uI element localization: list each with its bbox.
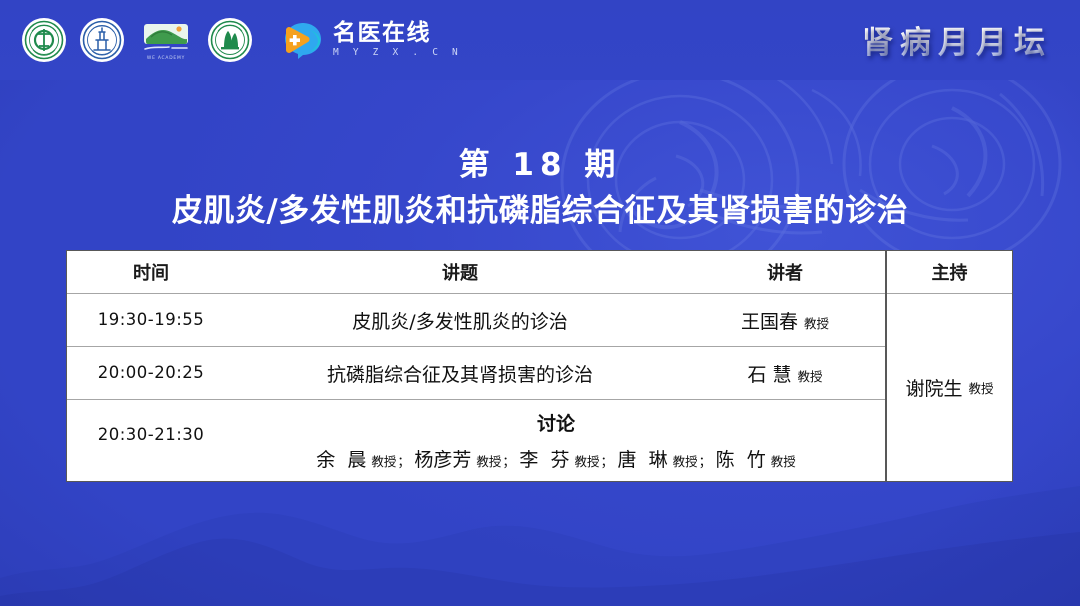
headline-block: 第 18 期 皮肌炎/多发性肌炎和抗磷脂综合征及其肾损害的诊治 — [0, 146, 1080, 231]
panelist-separator: ； — [601, 451, 614, 470]
panelist-rank: 教授 — [673, 451, 698, 470]
org-academy-logo-icon: WE ACADEMY — [138, 17, 194, 63]
row-topic: 抗磷脂综合征及其肾损害的诊治 — [327, 364, 593, 386]
panelist-name: 陈 竹 — [716, 445, 766, 472]
panelist-rank: 教授 — [371, 451, 396, 470]
row-time: 20:00-20:25 — [98, 363, 205, 382]
panelist-name: 李 芬 — [519, 445, 569, 472]
row-time: 19:30-19:55 — [98, 310, 205, 329]
panelist-name: 唐 琳 — [618, 445, 668, 472]
host-column: 主持 谢院生教授 — [885, 251, 1012, 481]
brand-title: 肾病月月坛 — [862, 17, 1052, 62]
panelist-name: 余 晨 — [316, 445, 366, 472]
myzx-domain: M Y Z X . C N — [333, 48, 462, 58]
page-title: 皮肌炎/多发性肌炎和抗磷脂综合征及其肾损害的诊治 — [0, 191, 1080, 231]
table-row: 19:30-19:55 皮肌炎/多发性肌炎的诊治 王国春教授 — [67, 294, 885, 347]
host-rank: 教授 — [969, 378, 994, 397]
panelist-separator: ； — [699, 451, 712, 470]
row-speaker-name: 石 慧 — [747, 364, 791, 386]
myzx-mark-icon — [280, 20, 324, 60]
discussion-row: 20:30-21:30 讨论 余 晨教授； 杨彦芳教授； 李 芬教授； 唐 琳教… — [67, 400, 885, 481]
row-speaker-name: 王国春 — [741, 311, 798, 333]
panelist-list: 余 晨教授； 杨彦芳教授； 李 芬教授； 唐 琳教授； 陈 竹教授 — [316, 445, 796, 472]
table-header-row: 时间 讲题 讲者 — [67, 251, 885, 294]
panelist-rank: 教授 — [575, 451, 600, 470]
issue-number: 第 18 期 — [0, 146, 1080, 185]
row-speaker-rank: 教授 — [804, 316, 829, 331]
svg-text:WE ACADEMY: WE ACADEMY — [147, 55, 185, 61]
host-name: 谢院生 — [905, 374, 962, 401]
row-speaker-rank: 教授 — [798, 369, 823, 384]
row-topic: 皮肌炎/多发性肌炎的诊治 — [352, 311, 567, 333]
table-row: 20:00-20:25 抗磷脂综合征及其肾损害的诊治 石 慧教授 — [67, 347, 885, 400]
schedule-main-columns: 时间 讲题 讲者 19:30-19:55 皮肌炎/多发性肌炎的诊治 王国春教授 … — [67, 251, 885, 481]
column-header-time: 时间 — [133, 263, 169, 284]
org-seal-green-2-icon — [208, 18, 252, 62]
myzx-name: 名医在线 — [333, 22, 462, 45]
schedule-table: 时间 讲题 讲者 19:30-19:55 皮肌炎/多发性肌炎的诊治 王国春教授 … — [66, 250, 1013, 482]
column-header-host: 主持 — [932, 259, 968, 285]
column-header-speaker: 讲者 — [767, 263, 803, 284]
discussion-label: 讨论 — [537, 409, 575, 436]
org-seal-blue-icon — [80, 18, 124, 62]
panelist-separator: ； — [502, 451, 515, 470]
org-seal-green-icon — [22, 18, 66, 62]
discussion-time: 20:30-21:30 — [98, 425, 205, 444]
panelist-name: 杨彦芳 — [414, 445, 471, 472]
panelist-rank: 教授 — [476, 451, 501, 470]
panelist-rank: 教授 — [771, 451, 796, 470]
column-header-topic: 讲题 — [442, 263, 478, 284]
panelist-separator: ； — [397, 451, 410, 470]
header-bar: WE ACADEMY — [0, 0, 1080, 80]
partner-logos: WE ACADEMY — [22, 12, 462, 68]
slide-root: WE ACADEMY — [0, 0, 1080, 606]
myzx-logo: 名医在线 M Y Z X . C N — [280, 20, 462, 60]
